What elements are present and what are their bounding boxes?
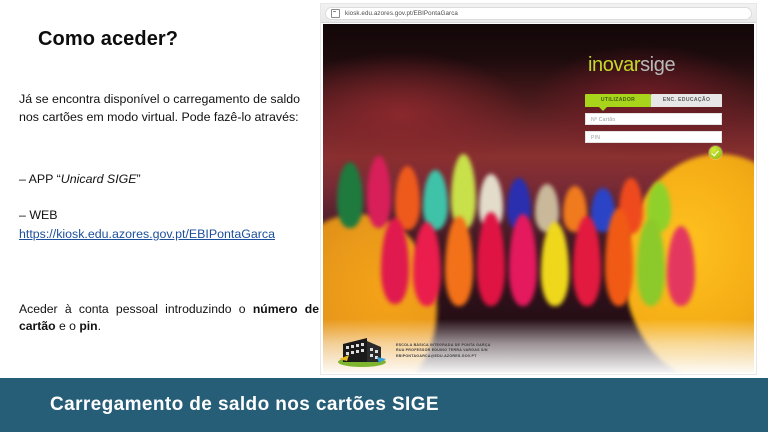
closing-suffix: . — [98, 319, 101, 333]
bullet-web-label: – WEB — [19, 208, 58, 222]
browser-chrome: kiosk.edu.azores.gov.pt/EBIPontaGarca — [321, 4, 756, 23]
check-icon[interactable] — [709, 146, 722, 159]
page-title: Como aceder? — [38, 28, 178, 51]
intro-paragraph: Já se encontra disponível o carregamento… — [19, 91, 319, 126]
closing-prefix: Aceder à conta pessoal introduzindo o — [19, 302, 253, 316]
url-text: kiosk.edu.azores.gov.pt/EBIPontaGarca — [345, 10, 458, 17]
kiosk-web-link[interactable]: https://kiosk.edu.azores.gov.pt/EBIPonta… — [19, 227, 275, 241]
brand-sige: sige — [640, 54, 675, 76]
closing-paragraph: Aceder à conta pessoal introduzindo o nú… — [19, 301, 319, 335]
school-email: EBIPONTAGARCA@EDU.AZORES.GOV.PT — [396, 354, 491, 359]
closing-bold-pin: pin — [79, 319, 97, 333]
pin-input[interactable]: PIN — [585, 131, 722, 143]
school-logo — [337, 335, 387, 367]
kiosk-page: inovarsige UTILIZADOR ENC. EDUCAÇÃO Nº C… — [323, 24, 754, 373]
bottom-banner: Carregamento de saldo nos cartões SIGE — [0, 378, 768, 432]
url-bar[interactable]: kiosk.edu.azores.gov.pt/EBIPontaGarca — [325, 7, 752, 20]
card-number-input[interactable]: Nº Cartão — [585, 113, 722, 125]
bullet-app-name: Unicard SIGE — [61, 172, 137, 186]
bullet-app-suffix: ” — [137, 172, 141, 186]
bullet-app-prefix: – APP “ — [19, 172, 61, 186]
browser-screenshot: kiosk.edu.azores.gov.pt/EBIPontaGarca — [320, 3, 757, 375]
inovarsige-logo: inovarsige — [588, 54, 675, 77]
banner-title: Carregamento de saldo nos cartões SIGE — [50, 394, 439, 416]
closing-middle: e o — [56, 319, 80, 333]
school-info: ESCOLA BÁSICA INTEGRADA DE PONTA GARÇA R… — [396, 343, 491, 358]
tab-enc-educacao[interactable]: ENC. EDUCAÇÃO — [651, 94, 722, 107]
brand-inovar: inovar — [588, 54, 640, 76]
bullet-app: – APP “Unicard SIGE” — [19, 172, 141, 186]
slide-root: Como aceder? Já se encontra disponível o… — [0, 0, 768, 432]
login-widget: UTILIZADOR ENC. EDUCAÇÃO Nº Cartão PIN — [585, 94, 722, 143]
tab-utilizador[interactable]: UTILIZADOR — [585, 94, 651, 107]
login-tabs: UTILIZADOR ENC. EDUCAÇÃO — [585, 94, 722, 107]
page-icon — [331, 9, 340, 18]
school-footer: ESCOLA BÁSICA INTEGRADA DE PONTA GARÇA R… — [337, 335, 491, 367]
school-address: RUA PROFESSOR EDUINO TERRA VARGAS S/N — [396, 348, 491, 353]
left-text-column: Como aceder? Já se encontra disponível o… — [0, 0, 320, 378]
